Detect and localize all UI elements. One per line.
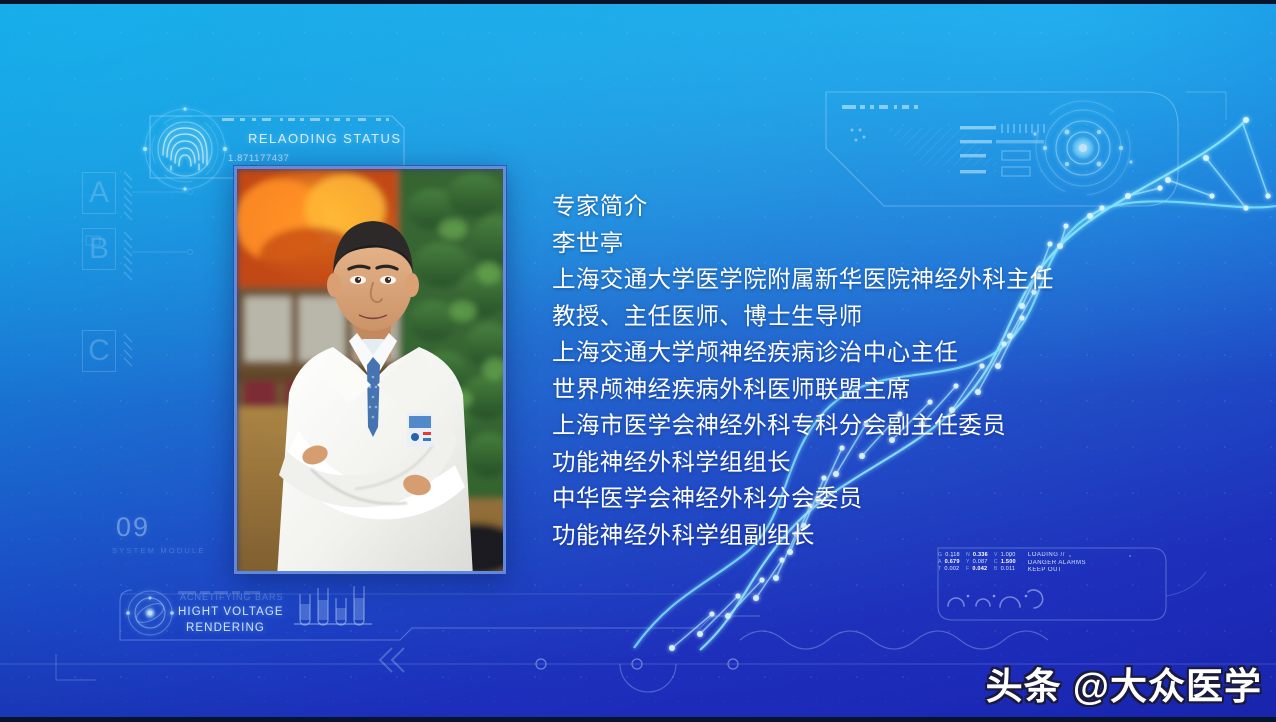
channel-watermark: 头条 @大众医学 [986, 656, 1262, 710]
telemetry-readout: C1.500 [994, 559, 1016, 565]
telemetry-value: 0.087 [973, 559, 988, 565]
telemetry-key: A [938, 559, 942, 565]
telemetry-key: F [966, 566, 969, 572]
bio-line: 李世亭 [552, 225, 1132, 262]
telemetry-value: 0.011 [1001, 566, 1016, 572]
slide-canvas: RELAODING STATUS 1.871177437 ACNETIFYING… [0, 0, 1276, 722]
slide-number-marker: 09 [116, 512, 150, 543]
dashed-readout-row [222, 118, 389, 121]
telemetry-value: 1.500 [1001, 559, 1016, 565]
letterbox-bottom [0, 717, 1276, 722]
bio-line: 上海交通大学医学院附属新华医院神经外科主任 [552, 261, 1132, 298]
letterbox-top [0, 0, 1276, 4]
telemetry-key: C [994, 559, 998, 565]
telemetry-readout: T0.002 [938, 566, 960, 572]
telemetry-alert: KEEP OUT [1028, 567, 1086, 573]
rendering-label: RENDERING [186, 622, 265, 634]
doctor-portrait-image [237, 169, 503, 571]
telemetry-key: Y [966, 559, 970, 565]
telemetry-key: B [994, 566, 998, 572]
high-voltage-label: HIGHT VOLTAGE [178, 606, 284, 618]
bio-line: 中华医学会神经外科分会委员 [552, 480, 1132, 517]
telemetry-readout: F0.042 [966, 566, 988, 572]
portrait-photo-frame [234, 166, 506, 574]
telemetry-readout: B0.011 [994, 566, 1016, 572]
edge-marker-a: A [82, 172, 116, 214]
telemetry-value: 0.042 [972, 566, 987, 572]
telemetry-alerts: LOADING //DANGER ALARMSKEEP OUT [1024, 552, 1086, 573]
bio-line: 功能神经外科学组副组长 [552, 517, 1132, 554]
high-voltage-ghost-label: ACNETIFYING BARS [180, 592, 284, 602]
radar-ring-icon [1033, 101, 1132, 195]
bio-line: 功能神经外科学组组长 [552, 444, 1132, 481]
bio-line: 世界颅神经疾病外科医师联盟主席 [552, 371, 1132, 408]
telemetry-value: 0.002 [944, 566, 959, 572]
expert-bio-text: 专家简介李世亭上海交通大学医学院附属新华医院神经外科主任教授、主任医师、博士生导… [552, 188, 1132, 553]
telemetry-readout: Y0.087 [966, 559, 988, 565]
telemetry-key: T [938, 566, 941, 572]
telemetry-values: G0.118N0.336V1.000A0.679Y0.087C1.500T0.0… [938, 552, 1016, 572]
telemetry-readout-panel: G0.118N0.336V1.000A0.679Y0.087C1.500T0.0… [938, 552, 1126, 598]
slide-number-sublabel: SYSTEM MODULE [112, 546, 206, 555]
bio-line: 上海交通大学颅神经疾病诊治中心主任 [552, 334, 1132, 371]
bio-line: 教授、主任医师、博士生导师 [552, 298, 1132, 335]
reloading-status-label: RELAODING STATUS [248, 131, 402, 146]
telemetry-readout: A0.679 [938, 559, 960, 565]
edge-marker-b: B [82, 228, 116, 270]
bio-line: 上海市医学会神经外科专科分会副主任委员 [552, 407, 1132, 444]
telemetry-value: 0.679 [945, 559, 960, 565]
reload-number-readout: 1.871177437 [228, 153, 289, 164]
edge-marker-c: C [82, 330, 116, 372]
telemetry-alert: DANGER ALARMS [1028, 560, 1086, 566]
atom-icon [126, 591, 174, 635]
bar-chart-icon [294, 586, 372, 625]
bio-line: 专家简介 [552, 188, 1132, 225]
